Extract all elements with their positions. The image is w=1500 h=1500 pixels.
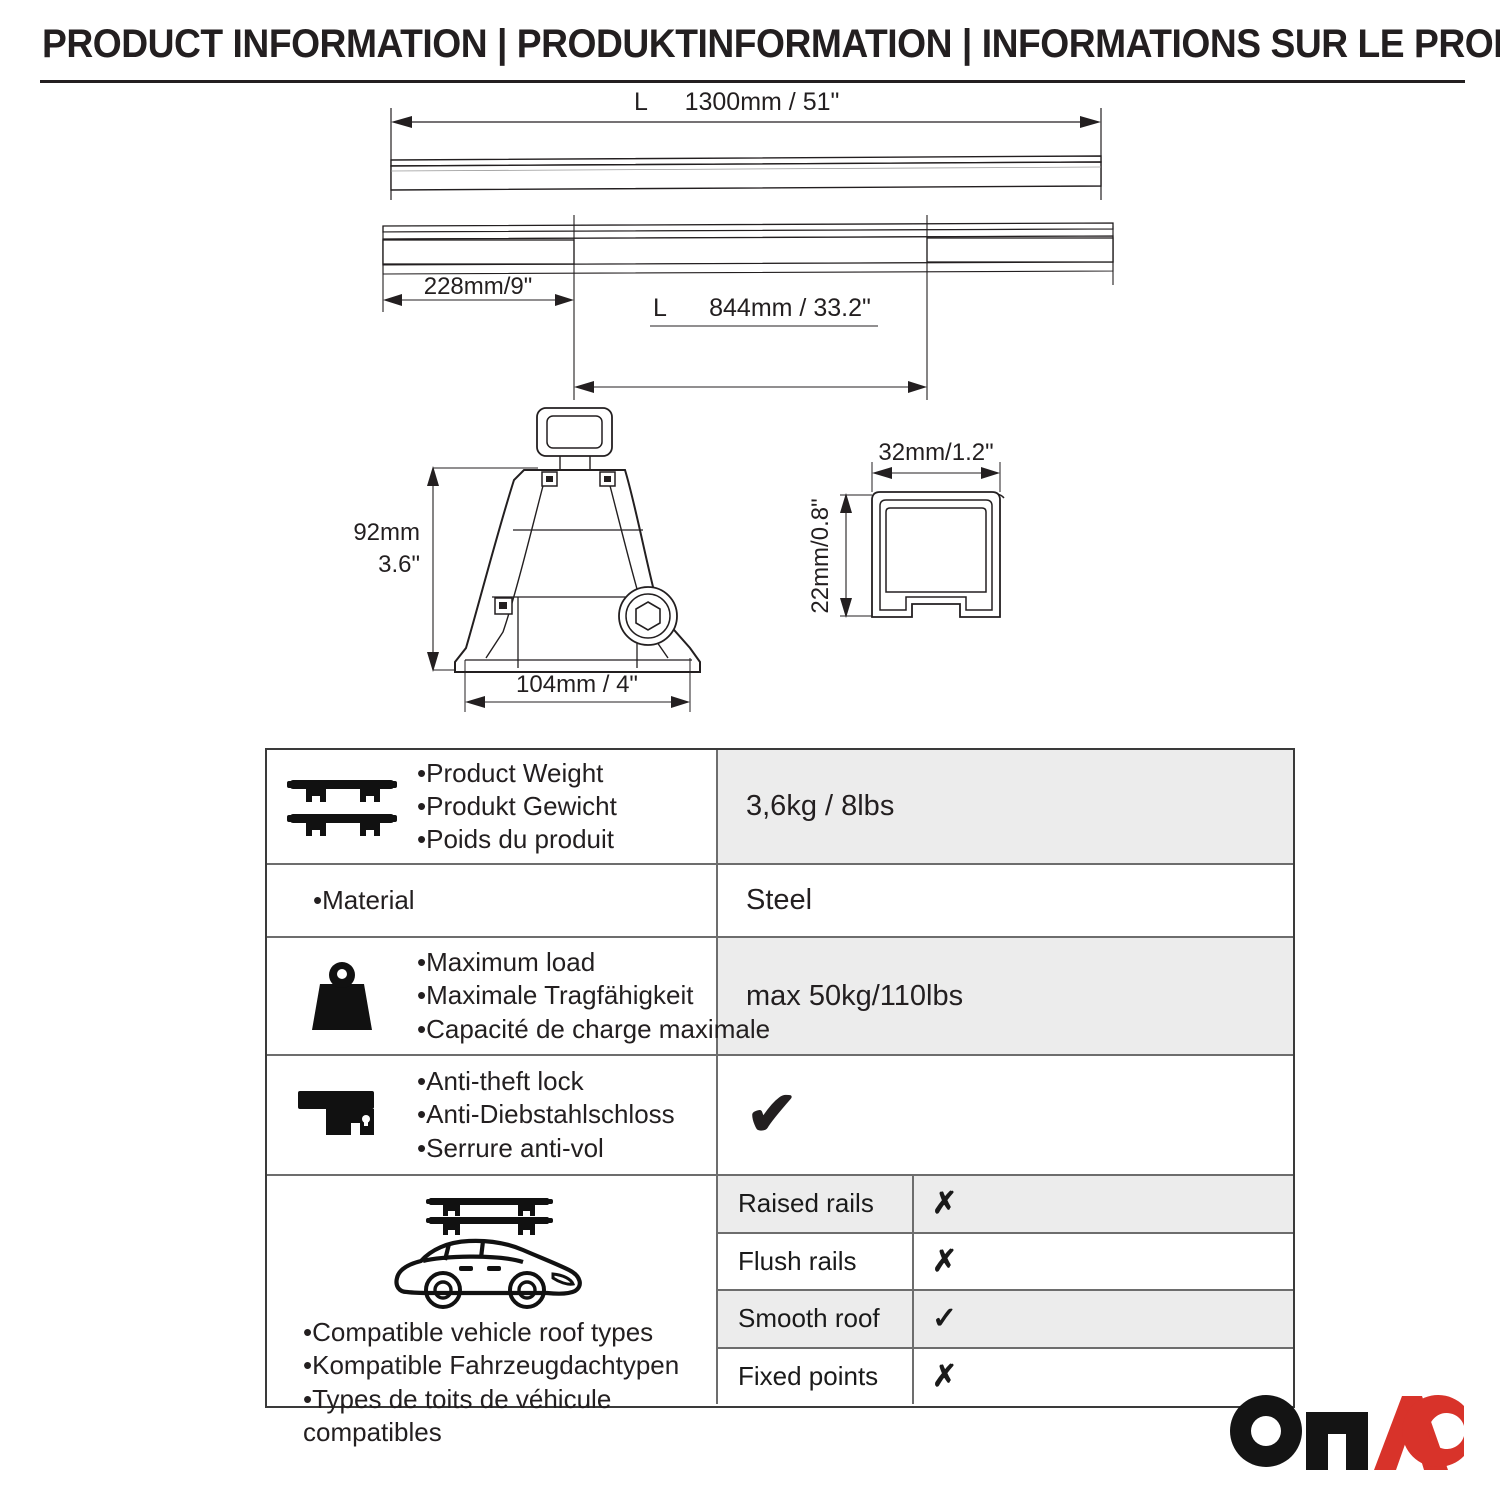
row-label-cell: •Material — [267, 865, 718, 936]
label-line-fr: •Capacité de charge maximale — [417, 1013, 770, 1046]
omac-logo — [1228, 1388, 1464, 1474]
omac-logo-svg — [1228, 1388, 1464, 1474]
specification-table: •Product Weight •Produkt Gewicht •Poids … — [265, 748, 1295, 1408]
profile-height-dim: 22mm/0.8" — [807, 498, 834, 613]
span-l-label: L — [653, 294, 667, 322]
row-label-text: •Anti-theft lock •Anti-Diebstahlschloss … — [417, 1065, 679, 1165]
span-value: 844mm / 33.2" — [709, 294, 871, 322]
label-line-de: •Anti-Diebstahlschloss — [417, 1098, 675, 1131]
row-label-text: •Maximum load •Maximale Tragfähigkeit •C… — [417, 946, 774, 1046]
table-row-maximum-load: •Maximum load •Maximale Tragfähigkeit •C… — [267, 938, 1293, 1056]
technical-drawing-svg: L 1300mm / 51" 228mm/9" L 844mm / 33.2" … — [0, 0, 1500, 740]
label-line-fr: •Poids du produit — [417, 823, 617, 856]
roof-type-mark-icon: ✗ — [914, 1234, 1293, 1290]
lock-icon — [267, 1083, 417, 1147]
label-line-de: •Maximale Tragfähigkeit — [417, 979, 770, 1012]
row-value-maximum-load: max 50kg/110lbs — [718, 938, 1293, 1054]
label-line-en: •Material — [313, 884, 415, 917]
car-with-bars-icon — [387, 1192, 597, 1312]
row-value-product-weight: 3,6kg / 8lbs — [718, 750, 1293, 863]
roof-type-subtable: Raised rails ✗ Flush rails ✗ Smooth roof… — [718, 1176, 1293, 1404]
row-label-cell: •Product Weight •Produkt Gewicht •Poids … — [267, 750, 718, 863]
roof-bars-icon — [267, 772, 417, 842]
foot-height-in: 3.6" — [378, 551, 420, 578]
label-line-en: •Product Weight — [417, 757, 617, 790]
label-line-fr: •Types de toits de véhicule compatibles — [303, 1383, 643, 1450]
roof-type-mark-icon: ✗ — [914, 1176, 1293, 1232]
row-label-text: •Product Weight •Produkt Gewicht •Poids … — [417, 757, 621, 857]
row-label-text: •Compatible vehicle roof types •Kompatib… — [267, 1316, 683, 1449]
weight-icon — [267, 958, 417, 1034]
bar-length-value: 1300mm / 51" — [685, 88, 840, 116]
row-label-text: •Material — [313, 884, 419, 917]
row-label-cell: •Compatible vehicle roof types •Kompatib… — [267, 1176, 718, 1404]
row-label-cell: •Anti-theft lock •Anti-Diebstahlschloss … — [267, 1056, 718, 1174]
label-line-en: •Compatible vehicle roof types — [303, 1316, 679, 1349]
label-line-en: •Anti-theft lock — [417, 1065, 675, 1098]
foot-height-mm: 92mm — [353, 519, 420, 546]
row-value-anti-theft-lock: ✔ — [718, 1056, 1293, 1174]
row-label-cell: •Maximum load •Maximale Tragfähigkeit •C… — [267, 938, 718, 1054]
foot-width-dim: 104mm / 4" — [516, 671, 638, 698]
label-line-de: •Kompatible Fahrzeugdachtypen — [303, 1349, 679, 1382]
row-value-material: Steel — [718, 865, 1293, 936]
roof-type-name: Smooth roof — [718, 1291, 914, 1347]
roof-type-row-raised-rails: Raised rails ✗ — [718, 1176, 1293, 1234]
roof-type-name: Fixed points — [718, 1349, 914, 1405]
table-row-material: •Material Steel — [267, 865, 1293, 938]
roof-type-row-flush-rails: Flush rails ✗ — [718, 1234, 1293, 1292]
bar-length-l-label: L — [634, 88, 648, 116]
table-row-anti-theft-lock: •Anti-theft lock •Anti-Diebstahlschloss … — [267, 1056, 1293, 1176]
label-line-de: •Produkt Gewicht — [417, 790, 617, 823]
roof-type-row-fixed-points: Fixed points ✗ — [718, 1349, 1293, 1405]
roof-type-row-smooth-roof: Smooth roof ✓ — [718, 1291, 1293, 1349]
label-line-fr: •Serrure anti-vol — [417, 1132, 675, 1165]
technical-drawing-area: L 1300mm / 51" 228mm/9" L 844mm / 33.2" … — [0, 0, 1500, 740]
label-line-en: •Maximum load — [417, 946, 770, 979]
check-mark-icon: ✔ — [746, 1096, 798, 1133]
roof-type-name: Flush rails — [718, 1234, 914, 1290]
table-row-roof-types: •Compatible vehicle roof types •Kompatib… — [267, 1176, 1293, 1404]
profile-width-dim: 32mm/1.2" — [878, 439, 993, 466]
roof-type-mark-icon: ✓ — [914, 1291, 1293, 1347]
end-offset-dim: 228mm/9" — [424, 273, 533, 300]
table-row-product-weight: •Product Weight •Produkt Gewicht •Poids … — [267, 750, 1293, 865]
roof-type-name: Raised rails — [718, 1176, 914, 1232]
product-information-page: PRODUCT INFORMATION | PRODUKTINFORMATION… — [0, 0, 1500, 1500]
